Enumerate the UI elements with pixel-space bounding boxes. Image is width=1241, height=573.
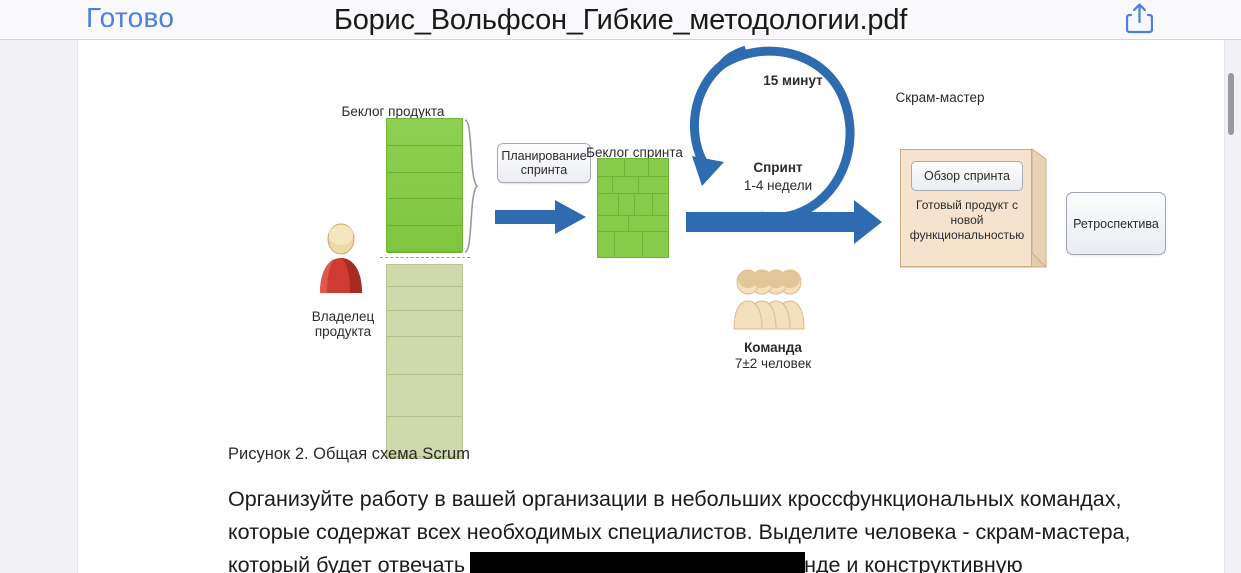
sprint-review-button[interactable]: Обзор спринта: [911, 161, 1023, 191]
share-button[interactable]: [1115, 1, 1163, 39]
product-owner-icon: [312, 223, 370, 295]
product-backlog-selected: [386, 118, 463, 252]
backlog-divider: [380, 257, 470, 258]
backlog-brace-icon: [463, 118, 489, 254]
pdf-viewer[interactable]: Беклог продукта: [0, 40, 1241, 573]
sprint-duration-label: 1-4 недели: [718, 178, 838, 193]
planning-arrow-icon: [493, 198, 588, 236]
document-title: Борис_Вольфсон_Гибкие_методологии.pdf: [0, 0, 1241, 40]
navigation-bar: Готово Борис_Вольфсон_Гибкие_методологии…: [0, 0, 1241, 40]
team-icon: [732, 269, 812, 331]
scrollbar-thumb[interactable]: [1228, 73, 1234, 135]
body-line-1: Организуйте работу в вашей организации в…: [228, 483, 1108, 516]
product-backlog-remaining: [386, 264, 463, 459]
retrospective-box[interactable]: Ретроспектива: [1066, 192, 1166, 255]
share-icon: [1126, 2, 1153, 39]
team-label: Команда: [708, 340, 838, 355]
scrum-diagram: Беклог продукта: [78, 40, 1224, 440]
scrum-master-label: Скрам-мастер: [870, 90, 1010, 105]
body-line-3: который будет отвечать за соблюдение про…: [228, 549, 1108, 573]
team-size-label: 7±2 человек: [708, 356, 838, 371]
sprint-review-box: Обзор спринта Готовый продукт с новой фу…: [900, 149, 1032, 267]
sprint-title-label: Спринт: [718, 160, 838, 175]
sprint-review-container: Обзор спринта Готовый продукт с новой фу…: [900, 145, 1048, 270]
redacted-text: за соблюдение процессов в кома: [471, 553, 804, 573]
body-line-3-prefix: который будет отвечать: [228, 553, 471, 573]
product-backlog-label: Беклог продукта: [303, 104, 483, 119]
sprint-backlog-grid: [597, 158, 669, 258]
body-line-3-suffix: нде и конструктивную: [804, 553, 1023, 573]
product-owner-label: Владелец продукта: [293, 309, 393, 339]
sprint-review-text: Готовый продукт с новой функциональность…: [905, 198, 1029, 243]
daily-scrum-label: 15 минут: [733, 73, 853, 88]
figure-caption: Рисунок 2. Общая схема Scrum: [228, 445, 470, 464]
body-text: Организуйте работу в вашей организации в…: [228, 483, 1108, 573]
pdf-page: Беклог продукта: [78, 40, 1224, 573]
body-line-2: которые содержат всех необходимых специа…: [228, 516, 1108, 549]
